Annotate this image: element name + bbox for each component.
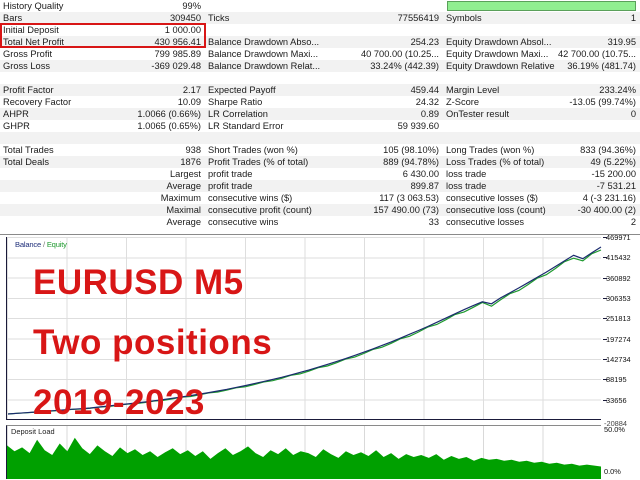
y-tick-label: 142734 xyxy=(606,355,631,364)
row-label-2: consecutive wins ($) xyxy=(205,192,335,204)
chart-legend: Balance / Equity xyxy=(15,240,67,249)
row-value-3 xyxy=(556,24,640,36)
row-value-2: 157 490.00 (73) xyxy=(335,204,443,216)
row-label-2: profit trade xyxy=(205,180,335,192)
row-label-2 xyxy=(205,0,335,12)
row-value-2 xyxy=(335,132,443,144)
row-value-1: -369 029.48 xyxy=(118,60,205,72)
row-value-3: 49 (5.22%) xyxy=(556,156,640,168)
y-tick-label: 469971 xyxy=(606,233,631,242)
table-row: Maximalconsecutive profit (count)157 490… xyxy=(0,204,640,216)
row-label-1 xyxy=(0,180,118,192)
row-value-3: 4 (-3 231.16) xyxy=(556,192,640,204)
row-label-3: consecutive loss (count) xyxy=(443,204,556,216)
row-value-3 xyxy=(556,120,640,132)
row-value-1 xyxy=(118,72,205,84)
row-label-1: Total Deals xyxy=(0,156,118,168)
row-value-1: 1876 xyxy=(118,156,205,168)
row-label-2: Sharpe Ratio xyxy=(205,96,335,108)
row-label-3 xyxy=(443,132,556,144)
deposit-load-0-label: 0.0% xyxy=(604,467,621,476)
row-value-2: 899.87 xyxy=(335,180,443,192)
row-value-1: Maximum xyxy=(118,192,205,204)
row-value-3: -30 400.00 (2) xyxy=(556,204,640,216)
row-value-1: Average xyxy=(118,180,205,192)
y-tick-label: 251813 xyxy=(606,314,631,323)
row-label-3 xyxy=(443,24,556,36)
chart-plot-area: Balance / Equity EURUSD M5 Two positions… xyxy=(6,237,601,420)
row-label-3: Equity Drawdown Maxi... xyxy=(443,48,556,60)
table-row: Profit Factor2.17Expected Payoff459.44Ma… xyxy=(0,84,640,96)
row-value-3: 319.95 xyxy=(556,36,640,48)
row-value-2 xyxy=(335,0,443,12)
row-value-3: -7 531.21 xyxy=(556,180,640,192)
row-value-3: 36.19% (481.74) xyxy=(556,60,640,72)
row-label-3: Z-Score xyxy=(443,96,556,108)
table-row: Largestprofit trade6 430.00loss trade-15… xyxy=(0,168,640,180)
row-label-1: History Quality xyxy=(0,0,118,12)
row-value-2: 33.24% (442.39) xyxy=(335,60,443,72)
row-value-2: 6 430.00 xyxy=(335,168,443,180)
row-label-1 xyxy=(0,204,118,216)
equity-chart: Balance / Equity EURUSD M5 Two positions… xyxy=(0,234,640,480)
row-label-3: Equity Drawdown Relative xyxy=(443,60,556,72)
row-label-1: Recovery Factor xyxy=(0,96,118,108)
row-value-1: Maximal xyxy=(118,204,205,216)
row-label-2: Balance Drawdown Abso... xyxy=(205,36,335,48)
history-quality-progress-bar xyxy=(447,1,636,11)
row-label-1: Total Net Profit xyxy=(0,36,118,48)
row-value-1: 1 000.00 xyxy=(118,24,205,36)
deposit-load-chart: Deposit Load xyxy=(6,425,601,479)
row-label-3 xyxy=(443,72,556,84)
row-label-1 xyxy=(0,168,118,180)
row-value-2 xyxy=(335,72,443,84)
row-value-3: 833 (94.36%) xyxy=(556,144,640,156)
backtest-report: History Quality99%Bars309450Ticks7755641… xyxy=(0,0,640,480)
row-label-3: loss trade xyxy=(443,168,556,180)
row-value-1: 1.0066 (0.66%) xyxy=(118,108,205,120)
row-label-2: consecutive profit (count) xyxy=(205,204,335,216)
annotation-strategy: Two positions xyxy=(33,323,272,363)
row-value-1: 10.09 xyxy=(118,96,205,108)
row-label-2 xyxy=(205,132,335,144)
row-label-1: Profit Factor xyxy=(0,84,118,96)
statistics-table: History Quality99%Bars309450Ticks7755641… xyxy=(0,0,640,234)
row-label-1: Initial Deposit xyxy=(0,24,118,36)
legend-balance: Balance xyxy=(15,240,41,249)
table-row: Initial Deposit1 000.00 xyxy=(0,24,640,36)
row-value-1: 2.17 xyxy=(118,84,205,96)
y-tick-label: 415432 xyxy=(606,253,631,262)
row-value-3: -15 200.00 xyxy=(556,168,640,180)
row-label-1: Gross Profit xyxy=(0,48,118,60)
row-value-1: Largest xyxy=(118,168,205,180)
table-row: Maximumconsecutive wins ($)117 (3 063.53… xyxy=(0,192,640,204)
row-label-2: Expected Payoff xyxy=(205,84,335,96)
row-value-3: 42 700.00 (10.75... xyxy=(556,48,640,60)
row-label-1: Gross Loss xyxy=(0,60,118,72)
row-label-1: AHPR xyxy=(0,108,118,120)
y-tick-label: 360892 xyxy=(606,274,631,283)
legend-equity: Equity xyxy=(47,240,67,249)
table-row: Gross Profit799 985.89Balance Drawdown M… xyxy=(0,48,640,60)
row-value-3 xyxy=(556,132,640,144)
row-value-3 xyxy=(556,72,640,84)
row-value-2: 105 (98.10%) xyxy=(335,144,443,156)
row-label-3: Equity Drawdown Absol... xyxy=(443,36,556,48)
row-value-1: Average xyxy=(118,216,205,228)
deposit-load-50-label: 50.0% xyxy=(604,425,625,434)
y-tick-label: 88195 xyxy=(606,375,627,384)
row-label-3: Loss Trades (% of total) xyxy=(443,156,556,168)
row-label-2 xyxy=(205,24,335,36)
row-value-1: 309450 xyxy=(118,12,205,24)
row-label-2: Ticks xyxy=(205,12,335,24)
table-row: Averageconsecutive wins33consecutive los… xyxy=(0,216,640,228)
row-value-2: 117 (3 063.53) xyxy=(335,192,443,204)
row-value-2 xyxy=(335,24,443,36)
row-label-2: profit trade xyxy=(205,168,335,180)
row-value-1: 1.0065 (0.65%) xyxy=(118,120,205,132)
row-value-2: 254.23 xyxy=(335,36,443,48)
row-label-2: LR Standard Error xyxy=(205,120,335,132)
row-value-1 xyxy=(118,132,205,144)
row-label-3: consecutive losses xyxy=(443,216,556,228)
row-label-1 xyxy=(0,192,118,204)
y-tick-label: 306353 xyxy=(606,294,631,303)
table-row: Total Net Profit430 956.41Balance Drawdo… xyxy=(0,36,640,48)
row-value-3: 0 xyxy=(556,108,640,120)
table-row: Total Deals1876Profit Trades (% of total… xyxy=(0,156,640,168)
row-value-2: 24.32 xyxy=(335,96,443,108)
legend-separator: / xyxy=(43,240,45,249)
table-row: AHPR1.0066 (0.66%)LR Correlation0.89OnTe… xyxy=(0,108,640,120)
annotation-period: 2019-2023 xyxy=(33,383,205,423)
row-label-1 xyxy=(0,72,118,84)
row-value-3: -13.05 (99.74%) xyxy=(556,96,640,108)
row-value-2: 889 (94.78%) xyxy=(335,156,443,168)
row-label-1 xyxy=(0,132,118,144)
row-label-1: Bars xyxy=(0,12,118,24)
row-label-2: consecutive wins xyxy=(205,216,335,228)
row-value-2: 40 700.00 (10.25... xyxy=(335,48,443,60)
row-value-1: 799 985.89 xyxy=(118,48,205,60)
row-label-3: Symbols xyxy=(443,12,556,24)
row-value-2: 77556419 xyxy=(335,12,443,24)
row-value-3: 1 xyxy=(556,12,640,24)
table-row: Recovery Factor10.09Sharpe Ratio24.32Z-S… xyxy=(0,96,640,108)
row-value-3: 2 xyxy=(556,216,640,228)
row-label-3: Margin Level xyxy=(443,84,556,96)
row-label-2: Profit Trades (% of total) xyxy=(205,156,335,168)
row-label-3: consecutive losses ($) xyxy=(443,192,556,204)
table-row: Gross Loss-369 029.48Balance Drawdown Re… xyxy=(0,60,640,72)
row-label-3: OnTester result xyxy=(443,108,556,120)
row-label-2 xyxy=(205,72,335,84)
row-label-3: Long Trades (won %) xyxy=(443,144,556,156)
row-label-3: loss trade xyxy=(443,180,556,192)
row-label-3 xyxy=(443,120,556,132)
y-tick-label: 197274 xyxy=(606,335,631,344)
annotation-symbol: EURUSD M5 xyxy=(33,263,244,303)
row-label-1: Total Trades xyxy=(0,144,118,156)
deposit-load-title: Deposit Load xyxy=(11,427,55,436)
row-value-3: 233.24% xyxy=(556,84,640,96)
table-row: Total Trades938Short Trades (won %)105 (… xyxy=(0,144,640,156)
chart-y-axis: 4699714154323608923063532518131972741427… xyxy=(603,235,640,425)
row-label-1: GHPR xyxy=(0,120,118,132)
row-label-1 xyxy=(0,216,118,228)
row-value-2: 33 xyxy=(335,216,443,228)
row-value-1: 99% xyxy=(118,0,205,12)
row-label-2: Balance Drawdown Maxi... xyxy=(205,48,335,60)
row-value-1: 938 xyxy=(118,144,205,156)
deposit-load-area xyxy=(7,426,601,479)
row-value-2: 59 939.60 xyxy=(335,120,443,132)
row-label-2: LR Correlation xyxy=(205,108,335,120)
row-label-2: Balance Drawdown Relat... xyxy=(205,60,335,72)
row-label-2: Short Trades (won %) xyxy=(205,144,335,156)
table-row: Bars309450Ticks77556419Symbols1 xyxy=(0,12,640,24)
table-row xyxy=(0,132,640,144)
y-tick-label: 33656 xyxy=(606,396,627,405)
table-row: Averageprofit trade899.87loss trade-7 53… xyxy=(0,180,640,192)
row-value-2: 459.44 xyxy=(335,84,443,96)
row-value-1: 430 956.41 xyxy=(118,36,205,48)
row-value-2: 0.89 xyxy=(335,108,443,120)
table-row xyxy=(0,72,640,84)
table-row: GHPR1.0065 (0.65%)LR Standard Error59 93… xyxy=(0,120,640,132)
